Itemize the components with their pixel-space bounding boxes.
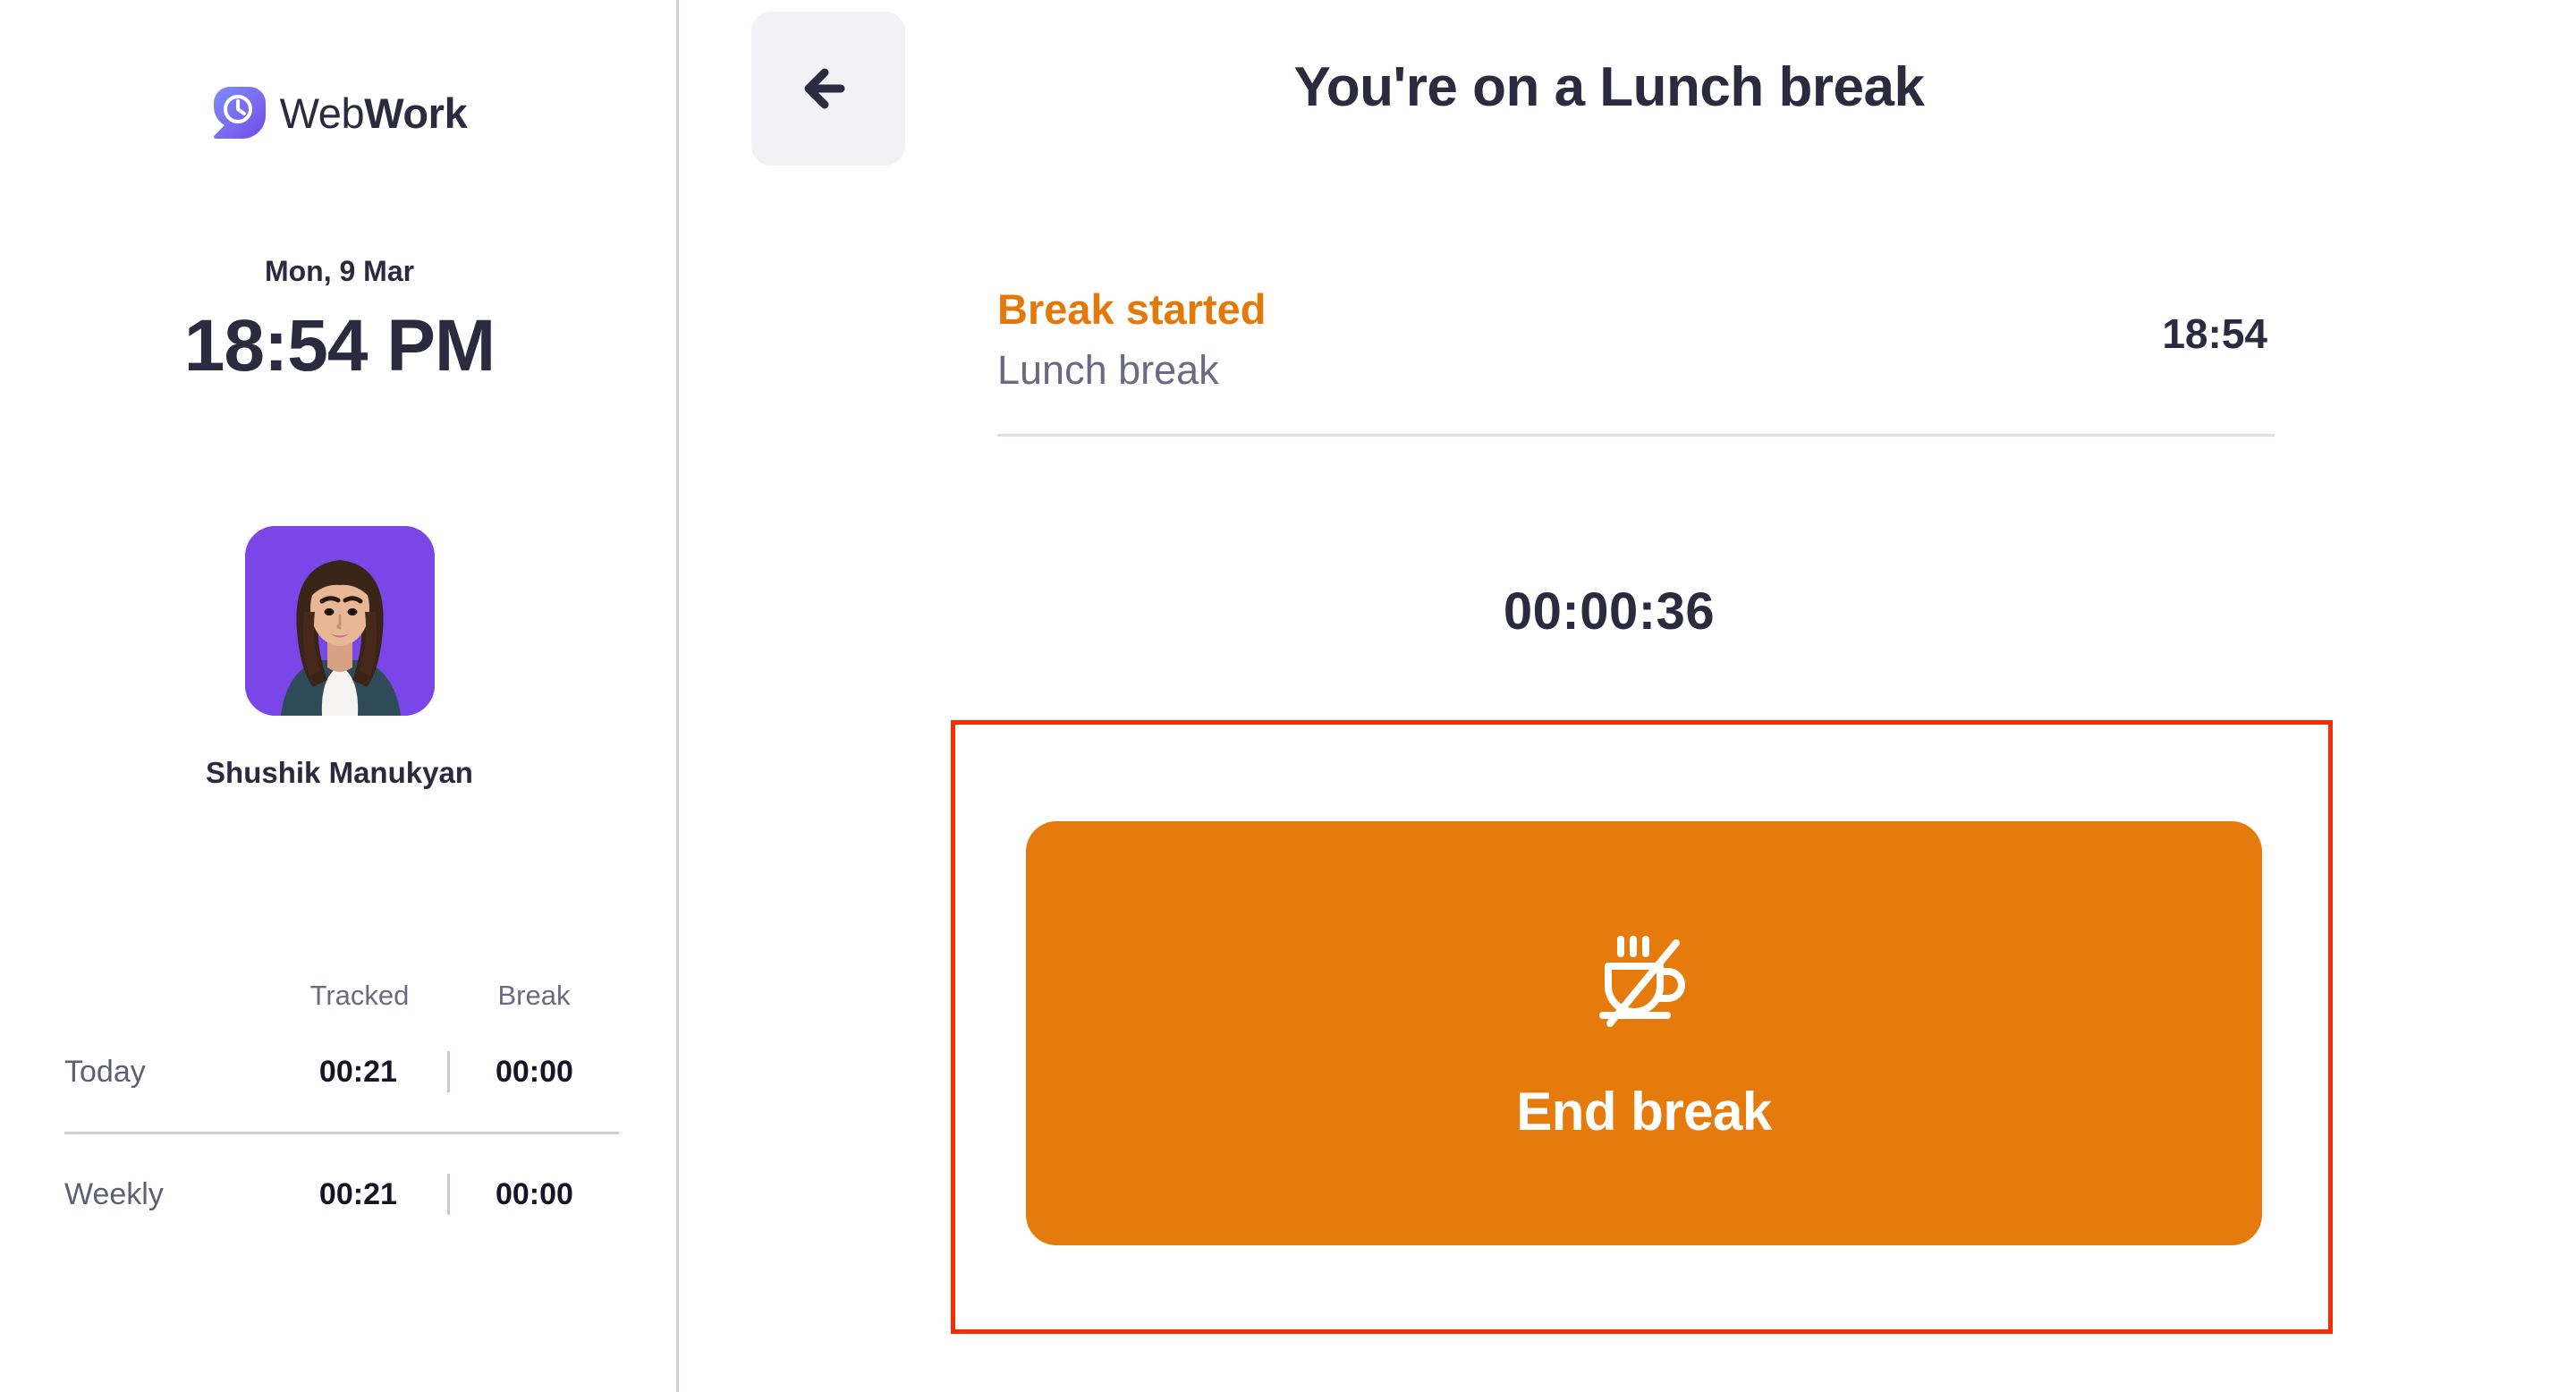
end-break-highlight-box: End break	[951, 720, 2333, 1334]
stats-header-break: Break	[449, 980, 619, 1012]
app-window: WebWork Mon, 9 Mar 18:54 PM	[0, 0, 2576, 1392]
stats-row-tracked: 00:21	[269, 1177, 447, 1212]
table-row: Today 00:21 00:00	[64, 1012, 619, 1132]
stats-header-row: Tracked Break	[64, 980, 619, 1012]
no-coffee-cup-icon	[1590, 925, 1698, 1031]
brand-name: WebWork	[280, 92, 468, 134]
break-type-label: Lunch break	[997, 346, 1266, 395]
table-row: Weekly 00:21 00:00	[64, 1134, 619, 1254]
break-timer: 00:00:36	[804, 581, 2414, 641]
break-info-left: Break started Lunch break	[997, 284, 1266, 395]
stats-header-blank	[64, 980, 270, 1012]
stats-row-break: 00:00	[450, 1055, 619, 1090]
break-status-label: Break started	[997, 284, 1266, 334]
brand-logo: WebWork	[0, 85, 679, 140]
end-break-button[interactable]: End break	[1026, 821, 2262, 1245]
stats-row-break: 00:00	[450, 1177, 619, 1212]
current-time: 18:54 PM	[0, 304, 679, 388]
stats-row-label: Today	[64, 1055, 269, 1090]
break-info-row: Break started Lunch break 18:54	[997, 284, 2276, 395]
break-info: Break started Lunch break 18:54	[997, 284, 2276, 437]
stats-row-tracked: 00:21	[269, 1055, 447, 1090]
stats-header-tracked: Tracked	[270, 980, 449, 1012]
end-break-label: End break	[1516, 1081, 1772, 1142]
sidebar: WebWork Mon, 9 Mar 18:54 PM	[0, 0, 679, 1392]
break-info-divider	[997, 434, 2275, 437]
user-name: Shushik Manukyan	[0, 756, 679, 790]
stats-row-label: Weekly	[64, 1177, 269, 1212]
time-stats-table: Tracked Break Today 00:21 00:00 Weekly 0…	[64, 980, 619, 1254]
avatar	[245, 526, 435, 716]
page-title: You're on a Lunch break	[804, 55, 2414, 119]
avatar-wrapper	[0, 526, 679, 716]
clock-pin-logo-icon	[212, 85, 267, 140]
current-date: Mon, 9 Mar	[0, 255, 679, 288]
main-panel: You're on a Lunch break Break started Lu…	[679, 0, 2576, 1392]
break-start-time: 18:54	[2162, 310, 2276, 358]
